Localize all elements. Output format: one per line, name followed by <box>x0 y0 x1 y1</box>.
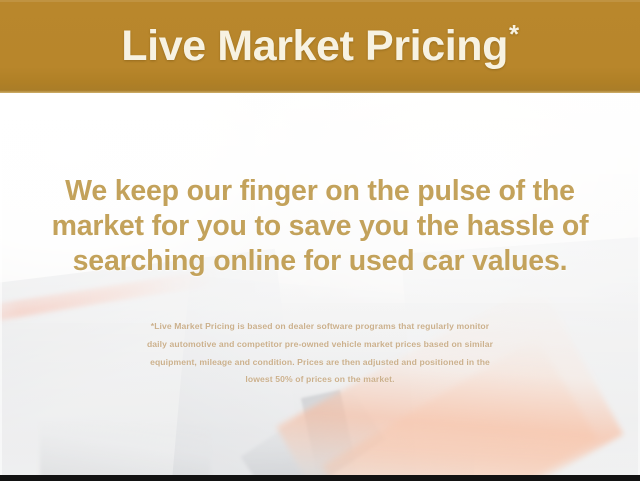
footnote-line-3: equipment, mileage and condition. Prices… <box>32 354 608 372</box>
photo-white-wash-overlay <box>0 93 640 475</box>
headline-line-2: market for you to save you the hassle of <box>0 209 640 244</box>
footnote-asterisk-marker: * <box>509 19 519 49</box>
headline-line-3: searching online for used car values. <box>0 244 640 279</box>
headline-text: We keep our finger on the pulse of the m… <box>0 174 640 279</box>
slide-container: Live Market Pricing* We keep our finger … <box>0 0 640 481</box>
footnote-text: *Live Market Pricing is based on dealer … <box>32 318 608 389</box>
header-bottom-edge <box>0 90 640 93</box>
footnote-line-1: *Live Market Pricing is based on dealer … <box>32 318 608 336</box>
headline-line-1: We keep our finger on the pulse of the <box>0 174 640 209</box>
footnote-line-2: daily automotive and competitor pre-owne… <box>32 336 608 354</box>
header-band: Live Market Pricing* <box>0 0 640 93</box>
footnote-line-4: lowest 50% of prices on the market. <box>32 371 608 389</box>
frame-edge-bottom <box>0 475 640 481</box>
frame-edge-left <box>0 93 2 475</box>
background-photo <box>0 93 640 475</box>
page-title: Live Market Pricing* <box>121 22 518 71</box>
header-top-edge <box>0 0 640 2</box>
page-title-text: Live Market Pricing <box>121 22 508 70</box>
